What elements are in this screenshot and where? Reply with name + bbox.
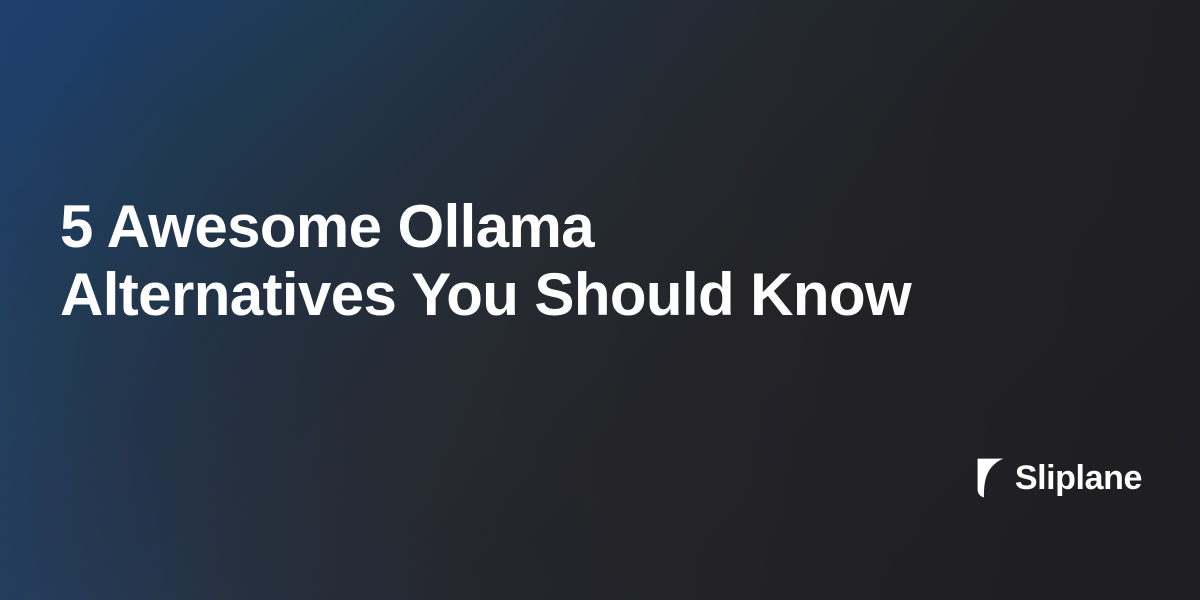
sliplane-logo-mark-icon [977,458,1004,498]
card-content: 5 Awesome Ollama Alternatives You Should… [0,0,1200,600]
og-card: 5 Awesome Ollama Alternatives You Should… [0,0,1200,600]
brand-wordmark: Sliplane [1015,458,1142,498]
brand-lockup: Sliplane [977,458,1142,498]
page-title: 5 Awesome Ollama Alternatives You Should… [60,193,1020,329]
